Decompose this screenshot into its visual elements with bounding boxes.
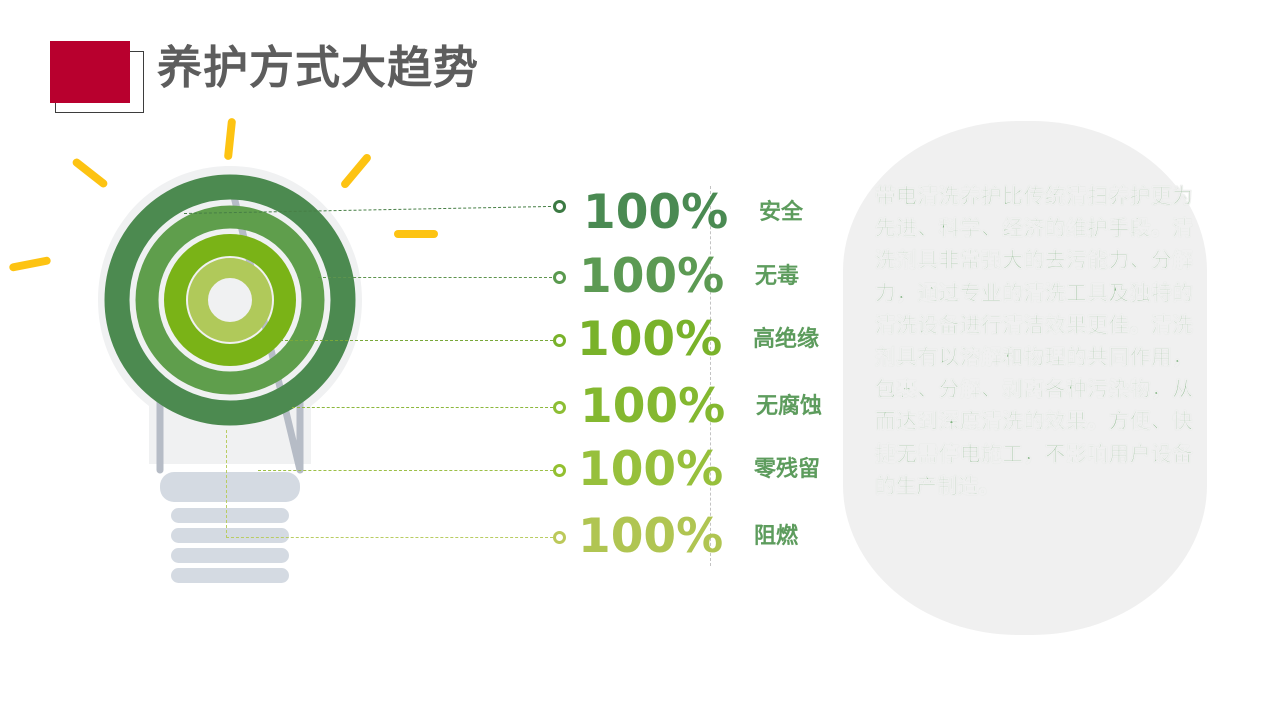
bulb-base-band-4	[171, 568, 289, 583]
connector-row-5	[258, 470, 567, 472]
stat-value: 100%	[578, 509, 718, 565]
light-bulb-graphic	[70, 150, 400, 590]
stat-value: 100%	[579, 249, 719, 305]
stat-label: 无毒	[755, 249, 799, 305]
stat-label: 高绝缘	[753, 312, 819, 368]
light-bulb-svg	[70, 150, 400, 590]
connector-dot-2	[553, 271, 566, 284]
connector-row-2	[318, 277, 567, 279]
connector-line-3	[280, 340, 553, 341]
stat-row: 100% 阻燃	[578, 509, 798, 565]
connector-dot-3	[553, 334, 566, 347]
connector-dot-4	[553, 401, 566, 414]
page-title: 养护方式大趋势	[157, 40, 479, 96]
bulb-base-cap	[160, 472, 300, 502]
connector-line-5	[258, 470, 553, 471]
connector-dot-6	[553, 531, 566, 544]
stat-label: 阻燃	[754, 509, 798, 565]
stat-row: 100% 无毒	[579, 249, 799, 305]
ray-left-icon	[9, 256, 52, 272]
stat-value: 100%	[578, 442, 718, 498]
connector-dot-5	[553, 464, 566, 477]
stat-row: 100% 安全	[583, 185, 803, 241]
connector-line-2	[318, 277, 552, 278]
stat-label: 安全	[759, 185, 803, 241]
connector-row-3	[280, 340, 567, 342]
connector-dot-1	[553, 200, 566, 213]
stat-value: 100%	[580, 379, 720, 435]
stat-value: 100%	[577, 312, 717, 368]
description-text: 带电清洗养护比传统清扫养护更为先进、科学、经济的维护手段。清洗剂具非常强大的去污…	[875, 180, 1193, 502]
bulb-base-band-3	[171, 548, 289, 563]
stat-value: 100%	[583, 185, 723, 241]
connector-row-4	[292, 407, 567, 409]
bulb-base-band-2	[171, 528, 289, 543]
stat-row: 100% 高绝缘	[577, 312, 819, 368]
slide-canvas: 养护方式大趋势	[0, 0, 1283, 721]
connector-line-6	[226, 537, 553, 538]
connector-row-6	[226, 537, 567, 539]
connector-line-4	[292, 407, 553, 408]
title-accent-square	[50, 41, 130, 103]
connector-row-1	[184, 213, 567, 215]
stat-label: 无腐蚀	[756, 379, 822, 435]
connector-vertical-line	[226, 430, 227, 538]
stat-row: 100% 零残留	[578, 442, 820, 498]
stat-label: 零残留	[754, 442, 820, 498]
stat-row: 100% 无腐蚀	[580, 379, 822, 435]
bulb-base-band-1	[171, 508, 289, 523]
ray-right-icon	[394, 230, 438, 238]
